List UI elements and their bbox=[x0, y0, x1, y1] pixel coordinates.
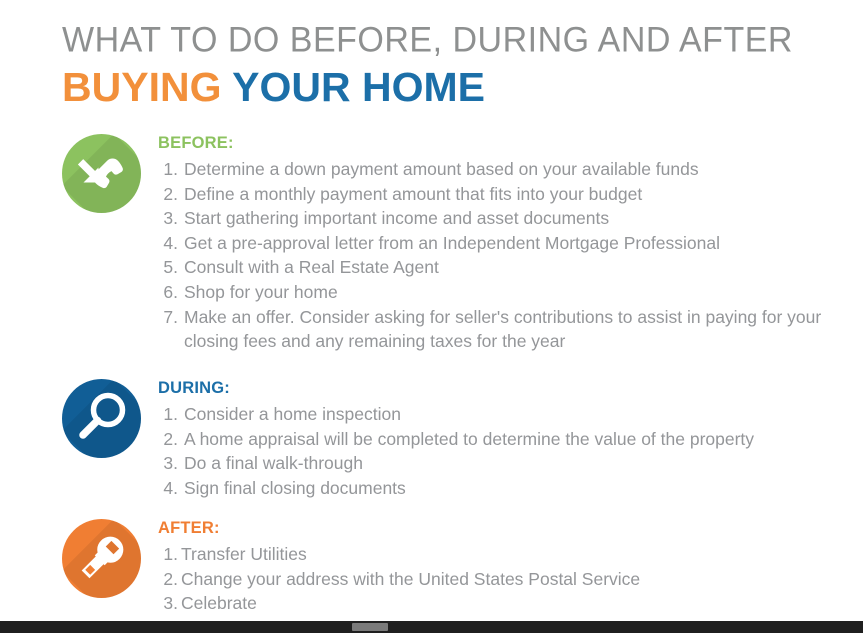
magnifying-glass-icon bbox=[62, 379, 141, 458]
title-your-home: YOUR HOME bbox=[221, 64, 485, 110]
list-item: 1.Determine a down payment amount based … bbox=[158, 157, 863, 182]
title-line-2: BUYING YOUR HOME bbox=[62, 62, 793, 112]
list-item: 3.Start gathering important income and a… bbox=[158, 206, 863, 231]
list-after: 1.Transfer Utilities 2.Change your addre… bbox=[158, 542, 640, 616]
list-text: A home appraisal will be completed to de… bbox=[184, 427, 754, 452]
list-number: 6. bbox=[158, 280, 178, 305]
wrench-glyph bbox=[62, 519, 141, 598]
list-item: 5.Consult with a Real Estate Agent bbox=[158, 255, 863, 280]
list-item: 6.Shop for your home bbox=[158, 280, 863, 305]
during-content: DURING: 1.Consider a home inspection 2.A… bbox=[158, 378, 754, 500]
list-item: 3.Celebrate bbox=[158, 591, 640, 616]
list-number: 2. bbox=[158, 427, 178, 452]
list-number: 7. bbox=[158, 305, 178, 354]
list-text: Start gathering important income and ass… bbox=[184, 206, 863, 231]
after-content: AFTER: 1.Transfer Utilities 2.Change you… bbox=[158, 518, 640, 616]
list-number: 3. bbox=[158, 451, 178, 476]
before-content: BEFORE: 1.Determine a down payment amoun… bbox=[158, 133, 863, 354]
magnifying-glass-glyph bbox=[62, 379, 141, 458]
list-before: 1.Determine a down payment amount based … bbox=[158, 157, 863, 354]
list-during: 1.Consider a home inspection 2.A home ap… bbox=[158, 402, 754, 500]
after-icon-wrap bbox=[62, 518, 152, 598]
scrollbar-thumb[interactable] bbox=[352, 623, 388, 631]
list-text: Make an offer. Consider asking for selle… bbox=[184, 305, 863, 354]
list-number: 1. bbox=[158, 542, 178, 567]
list-item: 2.A home appraisal will be completed to … bbox=[158, 427, 754, 452]
heading-during: DURING: bbox=[158, 378, 754, 398]
title-line-1: WHAT TO DO BEFORE, DURING AND AFTER bbox=[62, 18, 793, 62]
list-text: Do a final walk-through bbox=[184, 451, 754, 476]
list-text: Celebrate bbox=[181, 591, 640, 616]
list-item: 1.Consider a home inspection bbox=[158, 402, 754, 427]
list-number: 4. bbox=[158, 231, 178, 256]
infographic-page: WHAT TO DO BEFORE, DURING AND AFTER BUYI… bbox=[0, 0, 863, 621]
list-text: Define a monthly payment amount that fit… bbox=[184, 182, 863, 207]
list-item: 7.Make an offer. Consider asking for sel… bbox=[158, 305, 863, 354]
list-number: 3. bbox=[158, 591, 178, 616]
list-number: 5. bbox=[158, 255, 178, 280]
list-number: 2. bbox=[158, 567, 178, 592]
horizontal-scrollbar[interactable] bbox=[0, 621, 863, 633]
list-number: 1. bbox=[158, 402, 178, 427]
list-item: 4.Sign final closing documents bbox=[158, 476, 754, 501]
list-text: Shop for your home bbox=[184, 280, 863, 305]
list-text: Change your address with the United Stat… bbox=[181, 567, 640, 592]
title-accent-buying: BUYING bbox=[62, 64, 221, 110]
section-after: AFTER: 1.Transfer Utilities 2.Change you… bbox=[62, 518, 640, 616]
heading-after: AFTER: bbox=[158, 518, 640, 538]
list-text: Consult with a Real Estate Agent bbox=[184, 255, 863, 280]
section-before: BEFORE: 1.Determine a down payment amoun… bbox=[62, 133, 863, 354]
list-text: Get a pre-approval letter from an Indepe… bbox=[184, 231, 863, 256]
during-icon-wrap bbox=[62, 378, 152, 458]
list-number: 3. bbox=[158, 206, 178, 231]
list-text: Determine a down payment amount based on… bbox=[184, 157, 863, 182]
wrench-icon bbox=[62, 519, 141, 598]
before-icon-wrap bbox=[62, 133, 152, 213]
page-title: WHAT TO DO BEFORE, DURING AND AFTER BUYI… bbox=[62, 18, 793, 112]
list-item: 3.Do a final walk-through bbox=[158, 451, 754, 476]
list-number: 2. bbox=[158, 182, 178, 207]
list-item: 4.Get a pre-approval letter from an Inde… bbox=[158, 231, 863, 256]
list-text: Transfer Utilities bbox=[181, 542, 640, 567]
list-item: 1.Transfer Utilities bbox=[158, 542, 640, 567]
section-during: DURING: 1.Consider a home inspection 2.A… bbox=[62, 378, 754, 500]
list-text: Sign final closing documents bbox=[184, 476, 754, 501]
list-item: 2.Define a monthly payment amount that f… bbox=[158, 182, 863, 207]
heading-before: BEFORE: bbox=[158, 133, 863, 153]
incoming-call-glyph bbox=[62, 134, 141, 213]
list-item: 2.Change your address with the United St… bbox=[158, 567, 640, 592]
list-number: 1. bbox=[158, 157, 178, 182]
incoming-call-icon bbox=[62, 134, 141, 213]
list-text: Consider a home inspection bbox=[184, 402, 754, 427]
list-number: 4. bbox=[158, 476, 178, 501]
